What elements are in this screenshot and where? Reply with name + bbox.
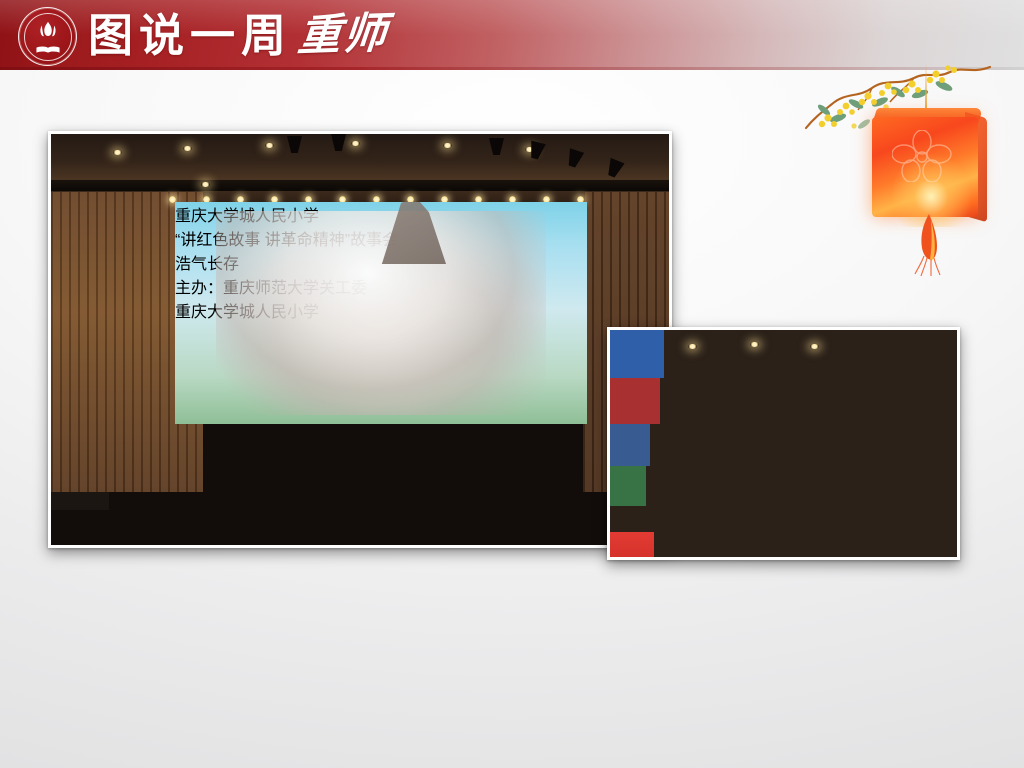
slide-canvas: 图说一周 重师 — [0, 0, 1024, 768]
ceiling-beam — [51, 180, 669, 191]
projection-screen: 重庆大学城人民小学 “讲红色故事 讲革命精神”故事会 浩气长存 主办：重庆师范大… — [175, 202, 587, 424]
slide-header: 图说一周 重师 — [0, 0, 1024, 70]
lantern-tassel — [914, 214, 944, 276]
page-title: 图说一周 — [88, 13, 292, 58]
header-title-group: 图说一周 重师 — [88, 2, 388, 68]
photo-main[interactable]: 重庆大学城人民小学 “讲红色故事 讲革命精神”故事会 浩气长存 主办：重庆师范大… — [48, 131, 672, 548]
page-title-cursive: 重师 — [296, 12, 390, 58]
screen-trees — [191, 277, 331, 401]
photo-inset[interactable] — [607, 327, 960, 560]
auditorium-scene: 重庆大学城人民小学 “讲红色故事 讲革命精神”故事会 浩气长存 主办：重庆师范大… — [51, 134, 669, 545]
seal-flame-glyph — [37, 21, 59, 41]
seal-book-glyph — [35, 46, 60, 54]
university-seal-icon — [18, 7, 77, 66]
child-raising-hand — [610, 506, 654, 560]
school-hall-scene — [610, 330, 957, 560]
